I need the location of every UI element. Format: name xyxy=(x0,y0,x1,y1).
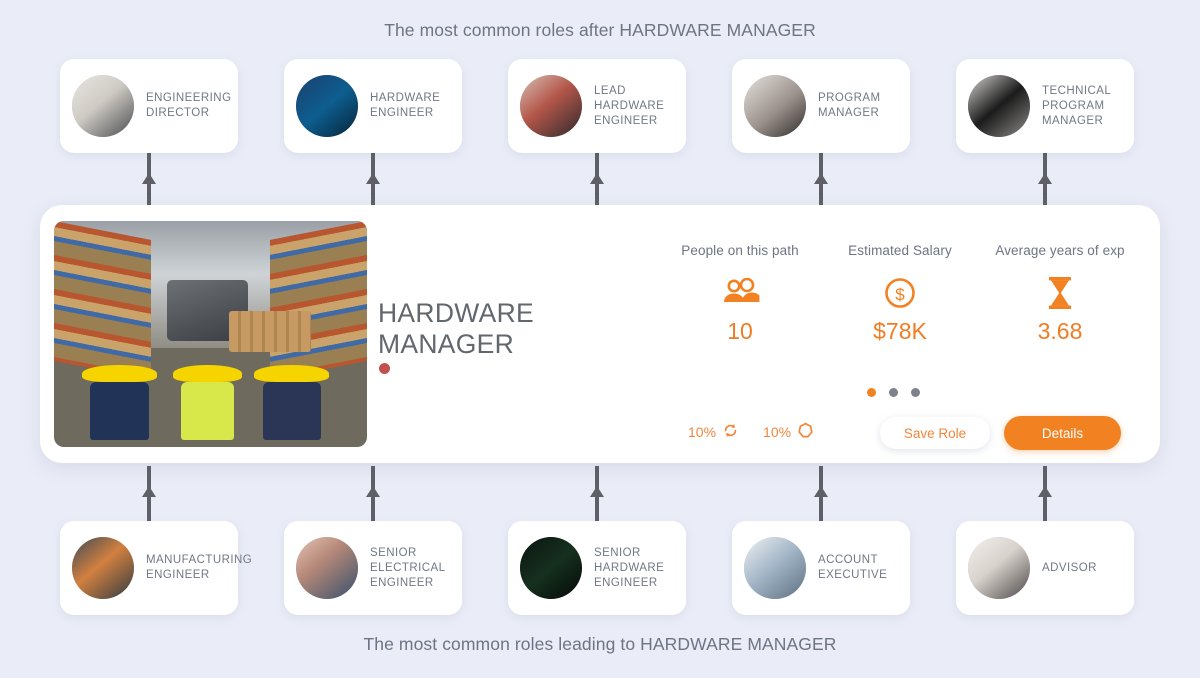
connector-arrow-from-prev-5 xyxy=(1043,466,1047,521)
hourglass-icon xyxy=(980,270,1140,316)
details-button[interactable]: Details xyxy=(1004,416,1121,450)
next-role-label-2: HARDWARE ENGINEER xyxy=(370,91,440,121)
connector-arrow-up-1 xyxy=(147,153,151,206)
next-role-label-3: LEAD HARDWARE ENGINEER xyxy=(594,84,664,129)
current-role-marker-dot xyxy=(379,363,390,374)
carousel-dot-2[interactable] xyxy=(889,388,898,397)
technical-program-manager-avatar xyxy=(968,75,1030,137)
connector-arrow-from-prev-3 xyxy=(595,466,599,521)
engineering-director-avatar xyxy=(72,75,134,137)
connector-arrow-up-5 xyxy=(1043,153,1047,206)
next-role-label-5: TECHNICAL PROGRAM MANAGER xyxy=(1042,84,1111,129)
page-title-next-roles: The most common roles after HARDWARE MAN… xyxy=(0,20,1200,41)
carousel-dot-1[interactable] xyxy=(867,388,876,397)
stats-row: People on this path 10 Estimated Salary … xyxy=(660,243,1140,345)
match-rate-chip[interactable]: 10% xyxy=(763,422,814,442)
previous-role-label-4: ACCOUNT EXECUTIVE xyxy=(818,553,887,583)
stat-value-salary: $78K xyxy=(820,318,980,345)
carousel-dot-3[interactable] xyxy=(911,388,920,397)
stat-label-salary: Estimated Salary xyxy=(820,243,980,258)
connector-arrow-from-prev-2 xyxy=(371,466,375,521)
connector-arrow-up-3 xyxy=(595,153,599,206)
senior-electrical-engineer-avatar xyxy=(296,537,358,599)
lead-hardware-engineer-avatar xyxy=(520,75,582,137)
previous-role-card-1[interactable]: MANUFACTURING ENGINEER xyxy=(60,521,238,615)
next-role-card-4[interactable]: PROGRAM MANAGER xyxy=(732,59,910,153)
connector-arrow-up-2 xyxy=(371,153,375,206)
account-executive-avatar xyxy=(744,537,806,599)
next-role-label-1: ENGINEERING DIRECTOR xyxy=(146,91,231,121)
stat-label-experience: Average years of exp xyxy=(980,243,1140,258)
sync-arrows-icon xyxy=(722,422,739,442)
stat-value-people: 10 xyxy=(660,318,820,345)
stat-people-on-path: People on this path 10 xyxy=(660,243,820,345)
match-rate-value: 10% xyxy=(763,424,791,440)
transition-rate-chip[interactable]: 10% xyxy=(688,422,739,442)
svg-text:$: $ xyxy=(895,285,905,304)
advisor-avatar xyxy=(968,537,1030,599)
manufacturing-engineer-avatar xyxy=(72,537,134,599)
previous-role-card-3[interactable]: SENIOR HARDWARE ENGINEER xyxy=(508,521,686,615)
previous-role-label-3: SENIOR HARDWARE ENGINEER xyxy=(594,546,664,591)
next-role-card-1[interactable]: ENGINEERING DIRECTOR xyxy=(60,59,238,153)
stat-label-people: People on this path xyxy=(660,243,820,258)
current-role-image xyxy=(54,221,367,447)
previous-role-card-4[interactable]: ACCOUNT EXECUTIVE xyxy=(732,521,910,615)
people-icon xyxy=(660,270,820,316)
stat-estimated-salary: Estimated Salary $ $78K xyxy=(820,243,980,345)
previous-role-label-1: MANUFACTURING ENGINEER xyxy=(146,553,252,583)
percentage-chips: 10% 10% xyxy=(688,422,814,442)
connector-arrow-from-prev-4 xyxy=(819,466,823,521)
hardware-engineer-avatar xyxy=(296,75,358,137)
next-role-card-5[interactable]: TECHNICAL PROGRAM MANAGER xyxy=(956,59,1134,153)
polygon-outline-icon xyxy=(797,422,814,442)
senior-hardware-engineer-avatar xyxy=(520,537,582,599)
current-role-title: HARDWARE MANAGER xyxy=(378,298,534,360)
stat-average-years-exp: Average years of exp 3.68 xyxy=(980,243,1140,345)
program-manager-avatar xyxy=(744,75,806,137)
previous-role-card-5[interactable]: ADVISOR xyxy=(956,521,1134,615)
carousel-dots[interactable] xyxy=(833,388,953,397)
connector-arrow-up-4 xyxy=(819,153,823,206)
stat-value-experience: 3.68 xyxy=(980,318,1140,345)
dollar-circle-icon: $ xyxy=(820,270,980,316)
page-title-previous-roles: The most common roles leading to HARDWAR… xyxy=(0,634,1200,655)
connector-arrow-from-prev-1 xyxy=(147,466,151,521)
previous-role-label-2: SENIOR ELECTRICAL ENGINEER xyxy=(370,546,445,591)
next-role-label-4: PROGRAM MANAGER xyxy=(818,91,881,121)
previous-role-card-2[interactable]: SENIOR ELECTRICAL ENGINEER xyxy=(284,521,462,615)
previous-role-label-5: ADVISOR xyxy=(1042,561,1097,576)
next-role-card-2[interactable]: HARDWARE ENGINEER xyxy=(284,59,462,153)
save-role-button[interactable]: Save Role xyxy=(880,417,990,449)
transition-rate-value: 10% xyxy=(688,424,716,440)
next-role-card-3[interactable]: LEAD HARDWARE ENGINEER xyxy=(508,59,686,153)
